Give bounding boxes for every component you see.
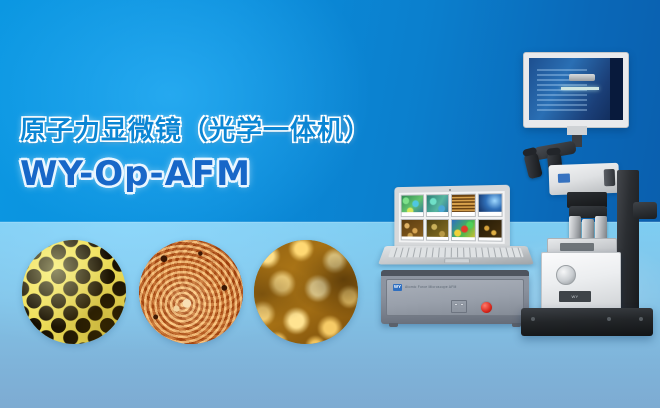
controller-port-block[interactable] [451, 300, 467, 313]
controller-foot [389, 323, 398, 327]
afm-sample-circle-1 [22, 240, 126, 344]
monitor-dark-edge [610, 58, 623, 120]
scanner-label-plate: WY [559, 291, 591, 302]
sample-slot [560, 243, 594, 251]
thumbnail-caption [426, 212, 448, 215]
eyepiece-cap [522, 147, 537, 157]
product-banner: 原子力显微镜（光学一体机） WY-Op-AFM [0, 0, 660, 408]
base-screw [531, 317, 535, 321]
scan-thumbnail [401, 194, 424, 216]
product-model: WY-Op-AFM [20, 157, 371, 191]
thumbnail-caption [452, 212, 474, 215]
scan-thumbnail [401, 219, 424, 241]
scan-thumbnail [451, 218, 475, 241]
controller-model-text: Atomic Force Microscope AFM [405, 285, 457, 289]
base-screw [639, 317, 643, 321]
controller-port[interactable] [454, 303, 458, 306]
scan-thumbnail [425, 219, 449, 241]
microscope-logo [558, 173, 570, 182]
controller-port[interactable] [460, 303, 464, 306]
afm-sample-shading-1 [22, 240, 126, 344]
webcam-icon [449, 188, 451, 190]
afm-pit-features [139, 240, 243, 344]
scanner-adjust-knob[interactable] [556, 265, 576, 285]
laptop-screen [399, 191, 505, 244]
optical-afm-microscope: WY [493, 52, 660, 340]
thumbnail-caption [426, 236, 448, 240]
monitor-stand [567, 126, 587, 135]
scan-thumbnail [451, 194, 475, 217]
afm-sample-circle-2 [139, 240, 243, 344]
microscope-head [548, 163, 619, 195]
eyepiece-cap [546, 147, 561, 155]
title-block: 原子力显微镜（光学一体机） WY-Op-AFM [20, 118, 371, 191]
thumbnail-caption [452, 237, 474, 241]
afm-sample-shading-3 [254, 240, 358, 344]
power-button[interactable] [480, 301, 493, 314]
scanner-positioning-rod [569, 74, 595, 81]
lcd-monitor [523, 52, 629, 128]
product-title-cn: 原子力显微镜（光学一体机） [20, 118, 371, 144]
granite-base [521, 308, 653, 336]
afm-scanner-head: WY [541, 252, 621, 312]
afm-sample-circle-3 [254, 240, 358, 344]
column-port-block [633, 202, 657, 219]
cantilever-image [561, 87, 599, 90]
base-screw [607, 317, 611, 321]
scan-thumbnail [425, 194, 449, 217]
thumbnail-caption [402, 212, 423, 215]
controller-logo: WY [393, 284, 402, 291]
controller-port[interactable] [460, 308, 464, 311]
thumbnail-caption [402, 236, 423, 240]
monitor-screen [529, 58, 623, 120]
head-adjust-knob[interactable] [604, 169, 616, 186]
laptop-touchpad[interactable] [444, 259, 471, 264]
controller-port[interactable] [454, 308, 458, 311]
